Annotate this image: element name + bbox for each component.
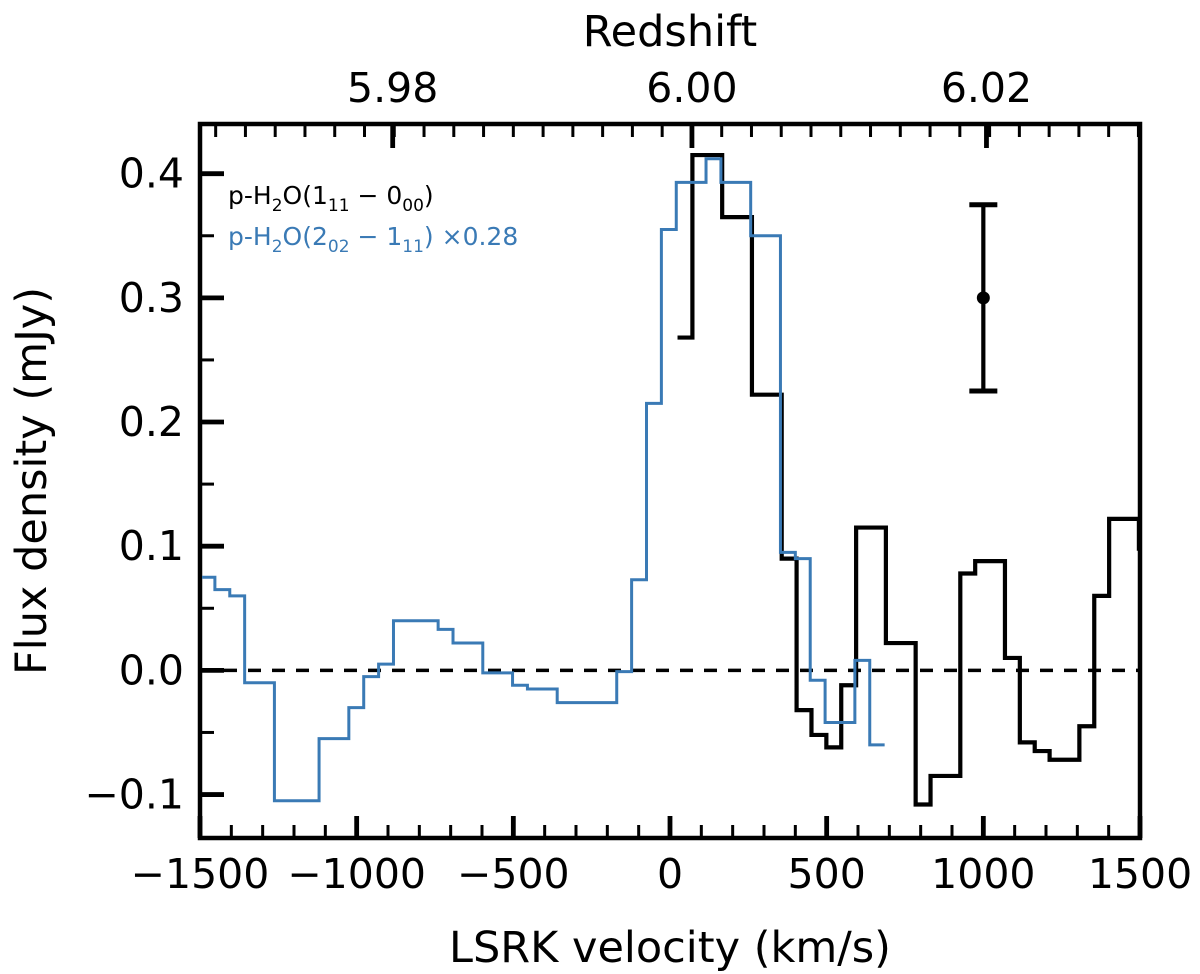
y-tick-label: 0.2 xyxy=(119,398,184,446)
y-tick-label: 0.0 xyxy=(119,646,184,694)
redshift-tick-label: 6.02 xyxy=(941,64,1032,112)
y-axis-title: Flux density (mJy) xyxy=(7,287,57,675)
y-tick-label: 0.1 xyxy=(119,522,184,570)
axes-border xyxy=(200,124,1140,838)
y-axis: −0.10.00.10.20.30.4Flux density (mJy) xyxy=(7,150,224,819)
x-tick-label: 0 xyxy=(657,850,683,898)
legend-entry-p-h2o-111-000: p-H2O(111 − 000) xyxy=(228,181,434,216)
x-tick-label: 1000 xyxy=(931,850,1035,898)
figure-panel: −1500−1000−500050010001500LSRK velocity … xyxy=(0,0,1200,974)
redshift-axis-title: Redshift xyxy=(583,7,758,57)
plot-frame xyxy=(200,124,1140,838)
redshift-tick-label: 6.00 xyxy=(646,64,737,112)
spectrum-plot: −1500−1000−500050010001500LSRK velocity … xyxy=(0,0,1200,974)
errorbar-marker xyxy=(977,291,990,304)
flux-errorbar xyxy=(969,205,997,391)
x-tick-label: −1500 xyxy=(131,850,270,898)
redshift-tick-label: 5.98 xyxy=(347,64,438,112)
spectrum-trace-black xyxy=(678,155,1184,804)
y-tick-label: 0.4 xyxy=(119,150,184,198)
x-tick-label: −500 xyxy=(457,850,570,898)
legend-entry-p-h2o-202-111: p-H2O(202 − 111) ×0.28 xyxy=(228,222,518,257)
y-tick-label: −0.1 xyxy=(84,771,184,819)
x-tick-label: 500 xyxy=(788,850,866,898)
x-tick-label: −1000 xyxy=(287,850,426,898)
spectrum-trace-blue xyxy=(200,159,885,801)
x-axis-title: LSRK velocity (km/s) xyxy=(449,923,891,973)
x-axis-top-redshift: 5.986.006.02Redshift xyxy=(216,7,1139,148)
x-tick-label: 1500 xyxy=(1088,850,1192,898)
y-tick-label: 0.3 xyxy=(119,274,184,322)
